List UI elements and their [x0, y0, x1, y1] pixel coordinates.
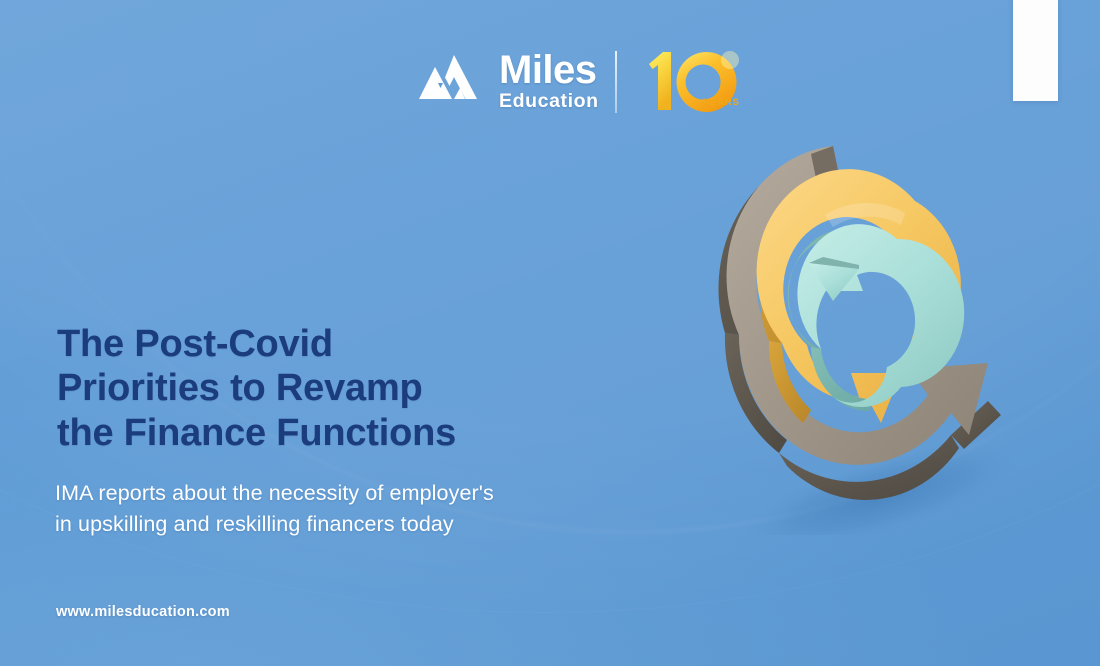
website-url[interactable]: www.milesducation.com — [56, 604, 230, 620]
logo-divider — [615, 51, 617, 113]
brand-tagline: Education — [499, 92, 599, 112]
page-subtitle: IMA reports about the necessity of emplo… — [55, 478, 494, 539]
mountain-icon — [418, 53, 490, 109]
anniversary-badge: YEARS — [633, 46, 741, 114]
circular-arrows-graphic — [665, 105, 1065, 535]
page-title: The Post-Covid Priorities to Revamp the … — [57, 322, 456, 455]
marketing-banner: Miles Education — [0, 0, 1100, 666]
white-rectangle-decoration — [1013, 0, 1058, 101]
brand-wordmark: Miles Education — [499, 48, 599, 112]
brand-name: Miles — [499, 50, 599, 90]
